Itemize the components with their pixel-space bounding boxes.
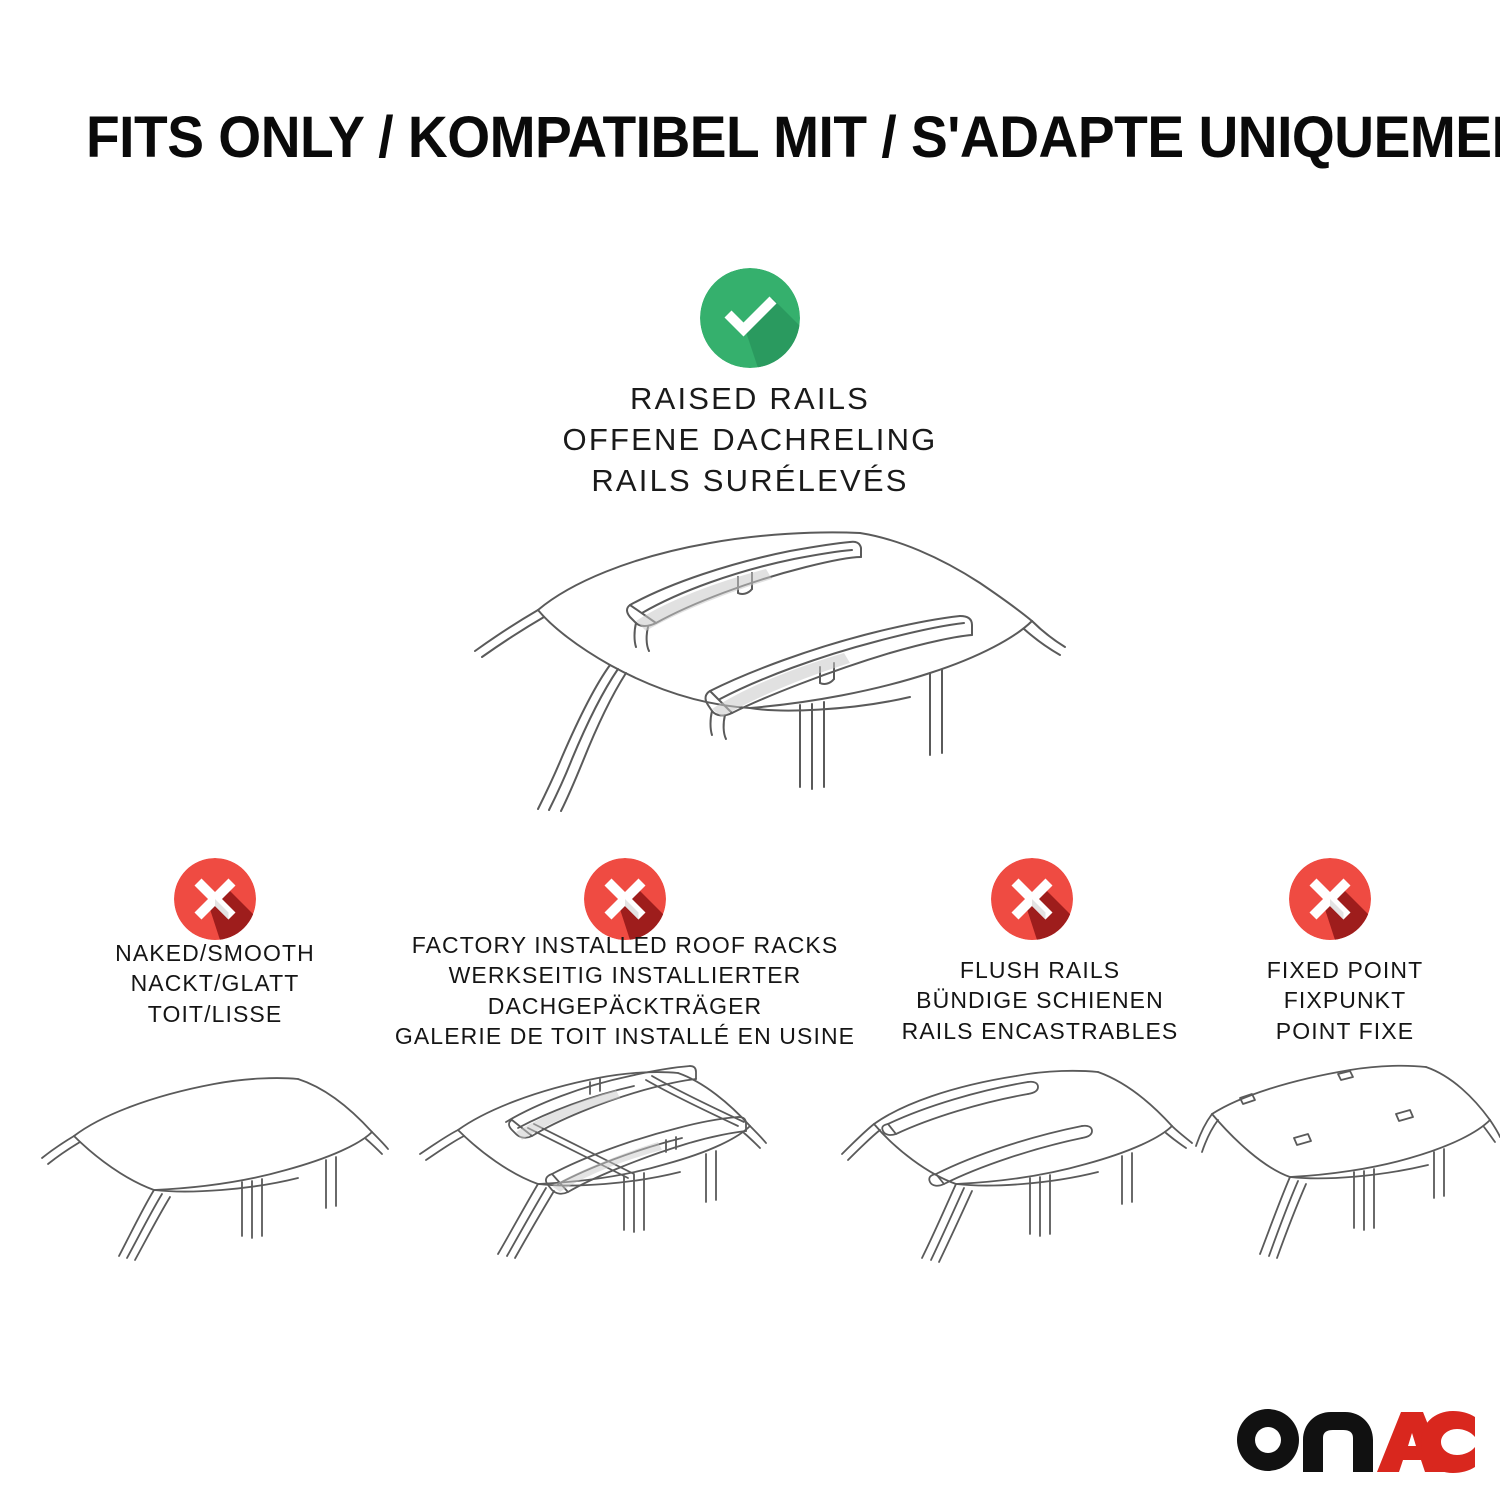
logo-letter-m [1303,1412,1373,1472]
car-roof-with-flush-rails-illustration [830,1058,1205,1308]
fitment-chart-page: FITS ONLY / KOMPATIBEL MIT / S'ADAPTE UN… [0,0,1500,1500]
compatible-label-fr: RAILS SURÉLEVÉS [450,460,1050,501]
label-line: NACKT/GLATT [15,968,415,998]
car-roof-with-fixed-points-illustration [1190,1058,1500,1308]
label-line: TOIT/LISSE [15,999,415,1029]
omac-logo [1235,1404,1475,1474]
cross-circle-icon [174,858,256,940]
car-roof-with-raised-rails-illustration [420,505,1080,825]
logo-letter-o [1237,1409,1299,1471]
label-line: GALERIE DE TOIT INSTALLÉ EN USINE [380,1021,870,1051]
cross-circle-icon [584,858,666,940]
incompatible-label-fixed-point: FIXED POINT FIXPUNKT POINT FIXE [1195,955,1495,1046]
label-line: RAILS ENCASTRABLES [845,1016,1235,1046]
cross-circle-icon [1289,858,1371,940]
check-circle-icon [700,268,800,368]
incompatible-label-flush-rails: FLUSH RAILS BÜNDIGE SCHIENEN RAILS ENCAS… [845,955,1235,1046]
label-line: BÜNDIGE SCHIENEN [845,985,1235,1015]
compatible-label: RAISED RAILS OFFENE DACHRELING RAILS SUR… [450,378,1050,502]
label-line: NAKED/SMOOTH [15,938,415,968]
car-roof-naked-smooth-illustration [30,1058,390,1308]
label-line: WERKSEITIG INSTALLIERTER [380,960,870,990]
incompatible-label-naked-smooth: NAKED/SMOOTH NACKT/GLATT TOIT/LISSE [15,938,415,1029]
car-roof-with-factory-crossbars-illustration [400,1058,775,1308]
label-line: FIXED POINT [1195,955,1495,985]
compatible-label-de: OFFENE DACHRELING [450,419,1050,460]
label-line: POINT FIXE [1195,1016,1495,1046]
cross-circle-icon [991,858,1073,940]
label-line: DACHGEPÄCKTRÄGER [380,991,870,1021]
label-line: FLUSH RAILS [845,955,1235,985]
label-line: FIXPUNKT [1195,985,1495,1015]
label-line: FACTORY INSTALLED ROOF RACKS [380,930,870,960]
incompatible-label-factory-roof-racks: FACTORY INSTALLED ROOF RACKS WERKSEITIG … [380,930,870,1051]
compatible-label-en: RAISED RAILS [450,378,1050,419]
page-title: FITS ONLY / KOMPATIBEL MIT / S'ADAPTE UN… [86,108,1359,169]
